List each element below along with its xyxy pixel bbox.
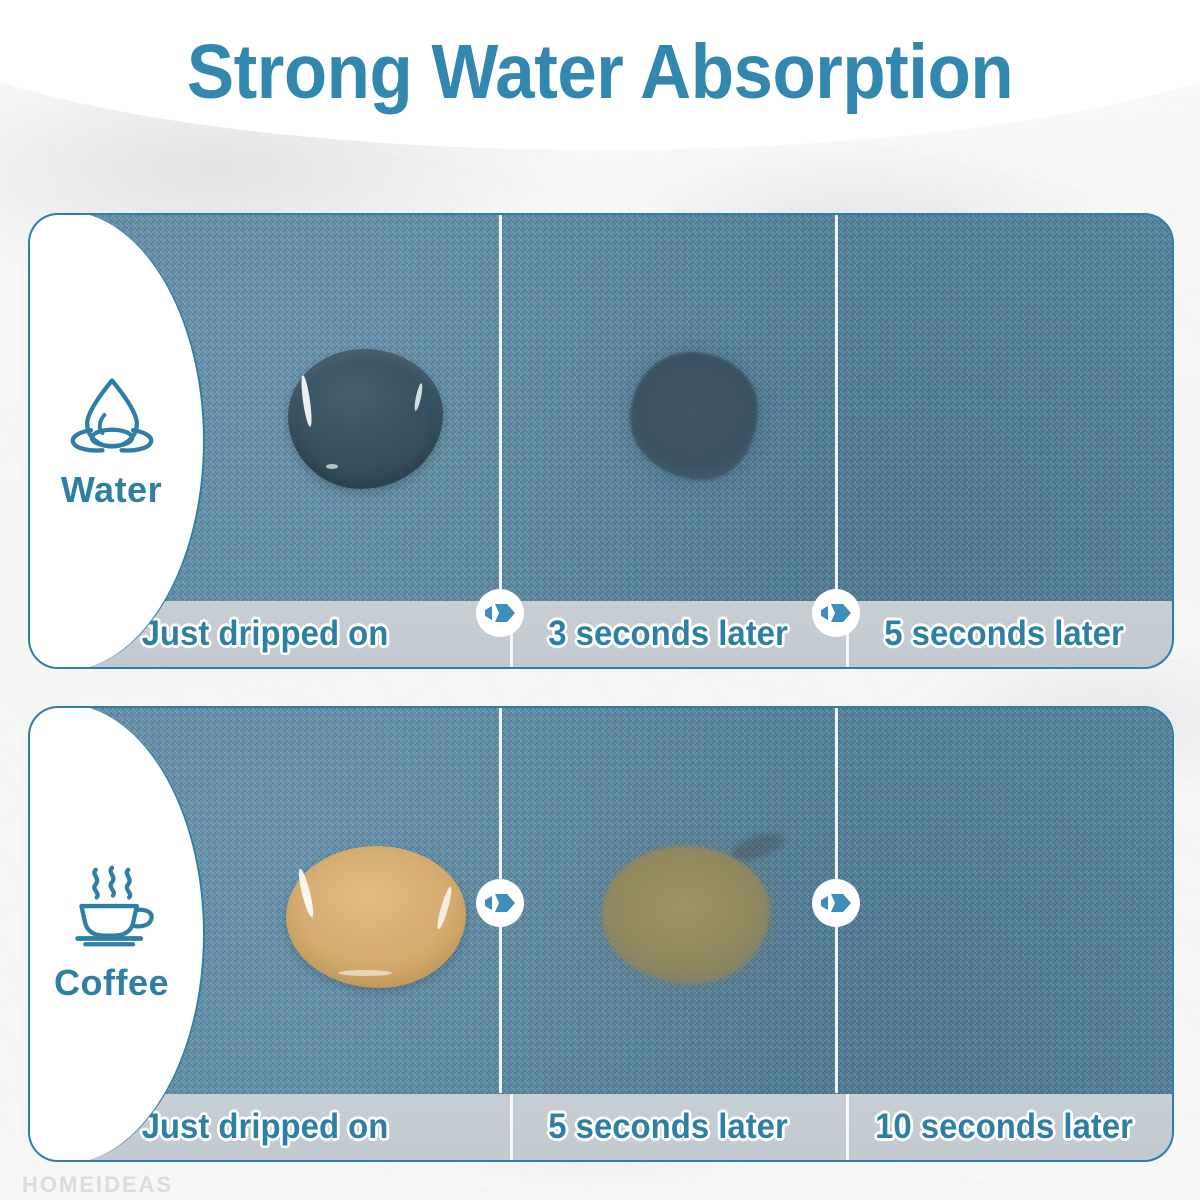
arrow-right-icon <box>483 600 517 626</box>
caption-coffee-step-3: 10 seconds later <box>846 1094 1162 1160</box>
row-label-water: Water <box>61 469 162 511</box>
coffee-cup-icon <box>64 864 160 950</box>
demo-row-coffee: Just dripped on 5 seconds later 10 secon… <box>28 706 1174 1162</box>
caption-bar-water: Just dripped on 3 seconds later 5 second… <box>30 601 1172 667</box>
demo-row-water: Just dripped on 3 seconds later 5 second… <box>28 213 1174 669</box>
coffee-fresh-droplet <box>286 846 466 988</box>
arrow-right-icon <box>483 890 517 916</box>
water-drop-icon <box>64 371 160 457</box>
page-title: Strong Water Absorption <box>48 30 1152 114</box>
caption-coffee-step-2: 5 seconds later <box>510 1094 826 1160</box>
coffee-highlight-left <box>296 868 316 918</box>
column-divider-1-water <box>499 215 502 600</box>
product-feature-image: Strong Water Absorption <box>0 0 1200 1200</box>
caption-water-step-3: 5 seconds later <box>846 601 1162 667</box>
water-highlight-bottom <box>326 464 338 469</box>
water-highlight-right <box>413 383 424 411</box>
caption-bar-coffee: Just dripped on 5 seconds later 10 secon… <box>30 1094 1172 1160</box>
arrow-right-badge-1-coffee <box>476 879 524 927</box>
arrow-right-icon <box>819 890 853 916</box>
caption-water-step-2: 3 seconds later <box>510 601 826 667</box>
coffee-highlight-right <box>435 886 454 930</box>
arrow-right-badge-1-water <box>476 589 524 637</box>
brand-watermark: HOMEIDEAS <box>22 1172 173 1198</box>
arrow-right-badge-2-coffee <box>812 879 860 927</box>
coffee-absorbed-stain <box>602 846 770 984</box>
coffee-highlight-bottom <box>338 970 392 976</box>
row-label-coffee: Coffee <box>54 962 169 1004</box>
arrow-right-icon <box>819 600 853 626</box>
arrow-right-badge-2-water <box>812 589 860 637</box>
column-divider-2-water <box>835 215 838 600</box>
water-highlight-left <box>299 375 313 427</box>
